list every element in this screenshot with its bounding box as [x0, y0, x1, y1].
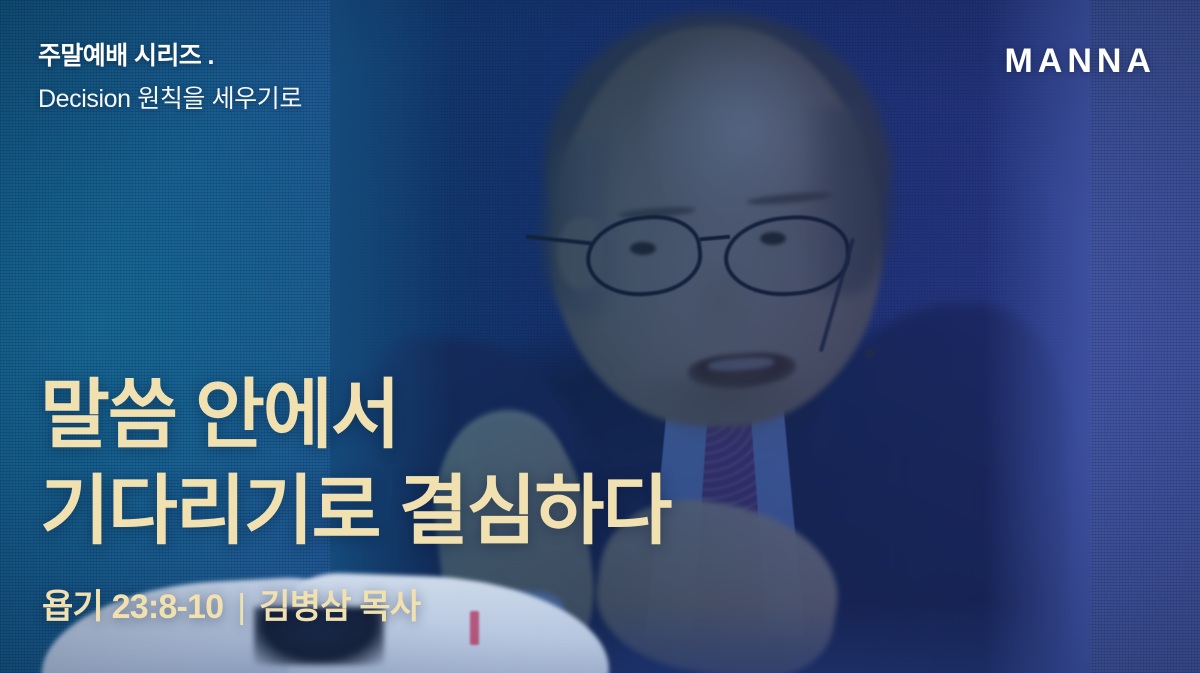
series-label: 주말예배 시리즈 . Decision 원칙을 세우기로: [38, 40, 302, 117]
headset-microphone-tip: [864, 348, 875, 359]
speaker-name: 김병삼 목사: [259, 588, 420, 626]
sermon-title-card: 주말예배 시리즈 . Decision 원칙을 세우기로 MANNA 말씀 안에…: [0, 0, 1200, 673]
series-line-2: Decision 원칙을 세우기로: [38, 83, 302, 117]
sermon-headline: 말씀 안에서 기다리기로 결심하다: [40, 368, 670, 560]
manna-logo: MANNA: [1004, 44, 1156, 78]
series-line-1: 주말예배 시리즈 .: [38, 40, 302, 74]
scripture-reference: 욥기 23:8-10: [42, 588, 223, 626]
headline-line-1: 말씀 안에서: [40, 368, 670, 464]
left-lens: [582, 210, 706, 302]
glasses-bridge: [700, 235, 730, 242]
scripture-and-speaker: 욥기 23:8-10|김병삼 목사: [42, 586, 420, 629]
bible-bookmark: [470, 611, 479, 645]
reference-separator: |: [223, 588, 259, 626]
headline-line-2: 기다리기로 결심하다: [40, 464, 670, 560]
right-lens: [721, 212, 852, 301]
